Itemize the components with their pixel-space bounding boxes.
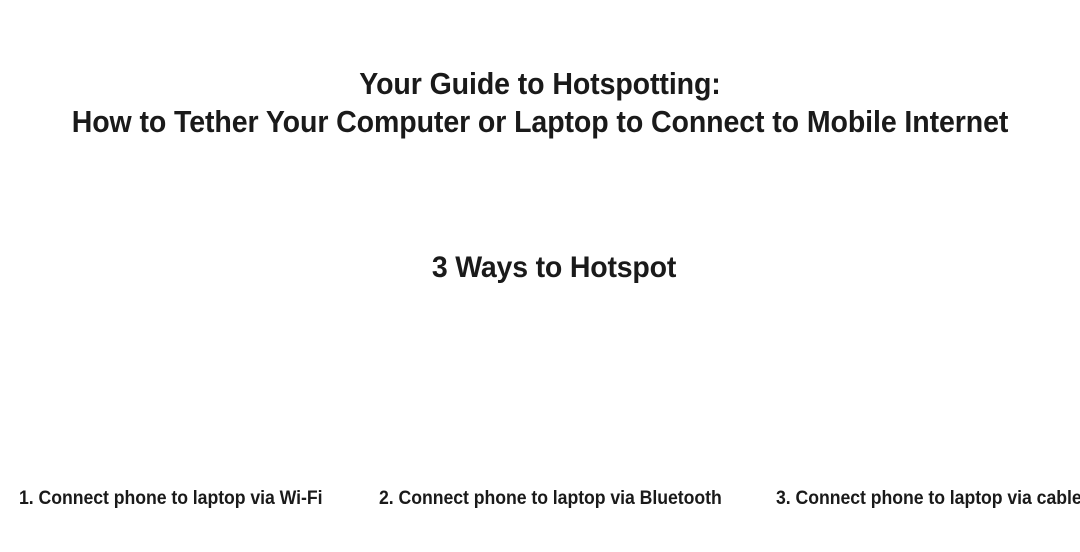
method-illustrations [0,285,1080,480]
article-page: Your Guide to Hotspotting: How to Tether… [0,0,1080,552]
method-illustration-3 [720,285,1080,480]
section-heading: 3 Ways to Hotspot [28,249,1080,287]
method-caption-wifi: 1. Connect phone to laptop via Wi-Fi [19,487,322,511]
page-title-line-1: Your Guide to Hotspotting: [43,65,1037,103]
method-illustration-2 [360,285,720,480]
method-illustration-1 [0,285,360,480]
page-title-line-2: How to Tether Your Computer or Laptop to… [43,103,1037,141]
page-title: Your Guide to Hotspotting: How to Tether… [43,65,1037,141]
method-caption-cable: 3. Connect phone to laptop via cable [776,487,1080,511]
method-caption-row: 1. Connect phone to laptop via Wi-Fi 2. … [0,487,1080,513]
method-caption-bluetooth: 2. Connect phone to laptop via Bluetooth [379,487,722,511]
